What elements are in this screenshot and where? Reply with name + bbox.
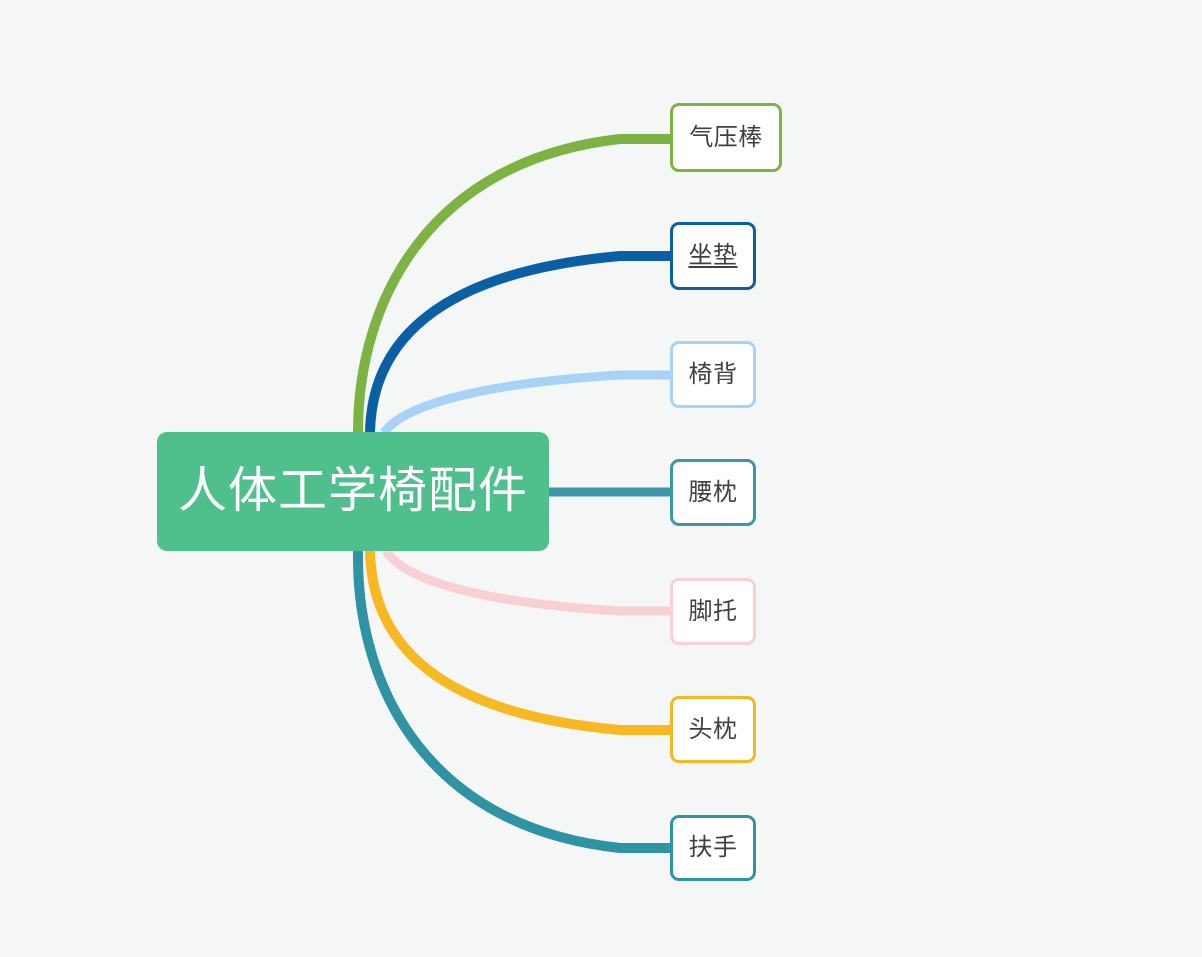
branch-node-backrest[interactable]: 椅背 [670,341,756,408]
branch-node-label-armrest: 扶手 [689,836,738,860]
branch-node-label-seat-cushion: 坐垫 [689,244,738,268]
central-node[interactable]: 人体工学椅配件 [157,432,549,551]
mindmap-canvas: 人体工学椅配件 气压棒坐垫椅背腰枕脚托头枕扶手 [0,0,1202,957]
branch-node-label-backrest: 椅背 [689,363,738,387]
connector-seat-cushion [370,256,672,432]
branch-node-footrest[interactable]: 脚托 [670,578,756,645]
connector-backrest [384,375,672,433]
connector-gas-lift [358,139,672,432]
branch-node-label-lumbar-pillow: 腰枕 [689,481,738,505]
branch-node-label-gas-lift: 气压棒 [689,126,763,150]
central-node-label: 人体工学椅配件 [178,467,528,516]
branch-node-gas-lift[interactable]: 气压棒 [670,103,782,172]
connector-headrest [370,551,672,730]
branch-node-armrest[interactable]: 扶手 [670,815,756,881]
branch-node-headrest[interactable]: 头枕 [670,696,756,763]
branch-node-lumbar-pillow[interactable]: 腰枕 [670,459,756,526]
branch-node-label-headrest: 头枕 [689,718,738,742]
connector-footrest [386,551,672,611]
branch-node-label-footrest: 脚托 [689,600,738,624]
connector-armrest [358,551,672,848]
branch-node-seat-cushion[interactable]: 坐垫 [670,222,756,290]
